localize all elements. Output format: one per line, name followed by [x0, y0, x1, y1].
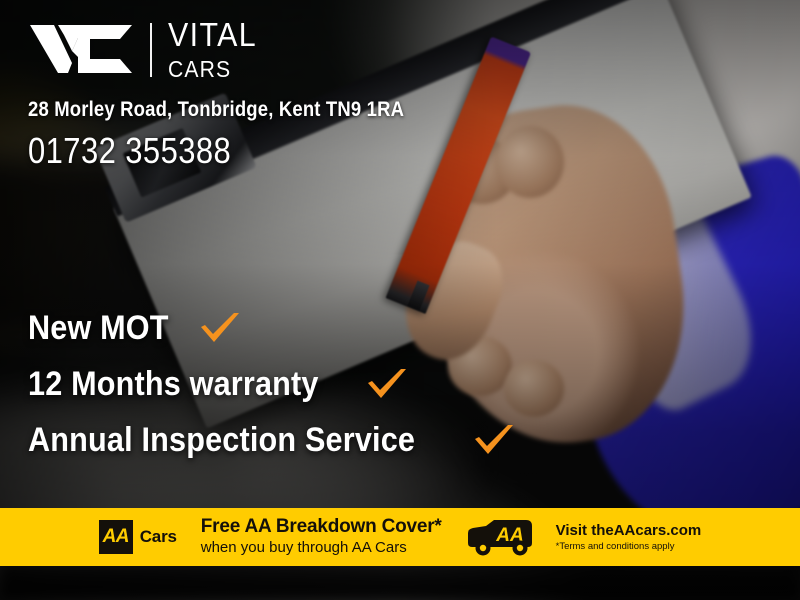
dealer-phone[interactable]: 01732 355388 [28, 130, 231, 172]
orange-check-icon [198, 311, 242, 345]
orange-check-icon [472, 423, 516, 457]
aa-banner-headline: Free AA Breakdown Cover* [201, 517, 442, 538]
aa-visit-link: Visit theAAcars.com [556, 522, 702, 539]
aa-banner-copy: Free AA Breakdown Cover* when you buy th… [201, 517, 442, 558]
brand-name-line1: VITAL [168, 18, 257, 51]
brand-name-line2: CARS [168, 58, 257, 81]
aa-logo-mark: AA [99, 520, 133, 554]
aa-logo-mark-text: AA [103, 526, 129, 548]
aa-van-icon: AA [464, 517, 536, 557]
feature-label: 12 Months warranty [28, 365, 319, 404]
brand-lockup: VITAL CARS [28, 18, 265, 81]
aa-banner-subline: when you buy through AA Cars [201, 539, 442, 557]
vehicle-dealer-advert: VITAL CARS 28 Morley Road, Tonbridge, Ke… [0, 0, 800, 600]
feature-label: Annual Inspection Service [28, 421, 415, 460]
feature-list: New MOT 12 Months warranty Annual Inspec… [28, 300, 548, 468]
feature-item: Annual Inspection Service [28, 412, 548, 468]
feature-item: 12 Months warranty [28, 356, 548, 412]
orange-check-icon [365, 367, 409, 401]
aa-breakdown-banner: AA Cars Free AA Breakdown Cover* when yo… [0, 508, 800, 566]
feature-item: New MOT [28, 300, 548, 356]
aa-logo-word: Cars [140, 527, 177, 547]
aa-cars-logo[interactable]: AA Cars [99, 520, 177, 554]
brand-wordmark: VITAL CARS [168, 18, 265, 81]
aa-terms-note: *Terms and conditions apply [556, 541, 702, 552]
aa-visit-block[interactable]: Visit theAAcars.com *Terms and condition… [556, 522, 702, 553]
brand-divider [150, 23, 152, 77]
vc-monogram-icon [28, 21, 140, 79]
feature-label: New MOT [28, 309, 169, 348]
dealer-address: 28 Morley Road, Tonbridge, Kent TN9 1RA [28, 98, 404, 122]
